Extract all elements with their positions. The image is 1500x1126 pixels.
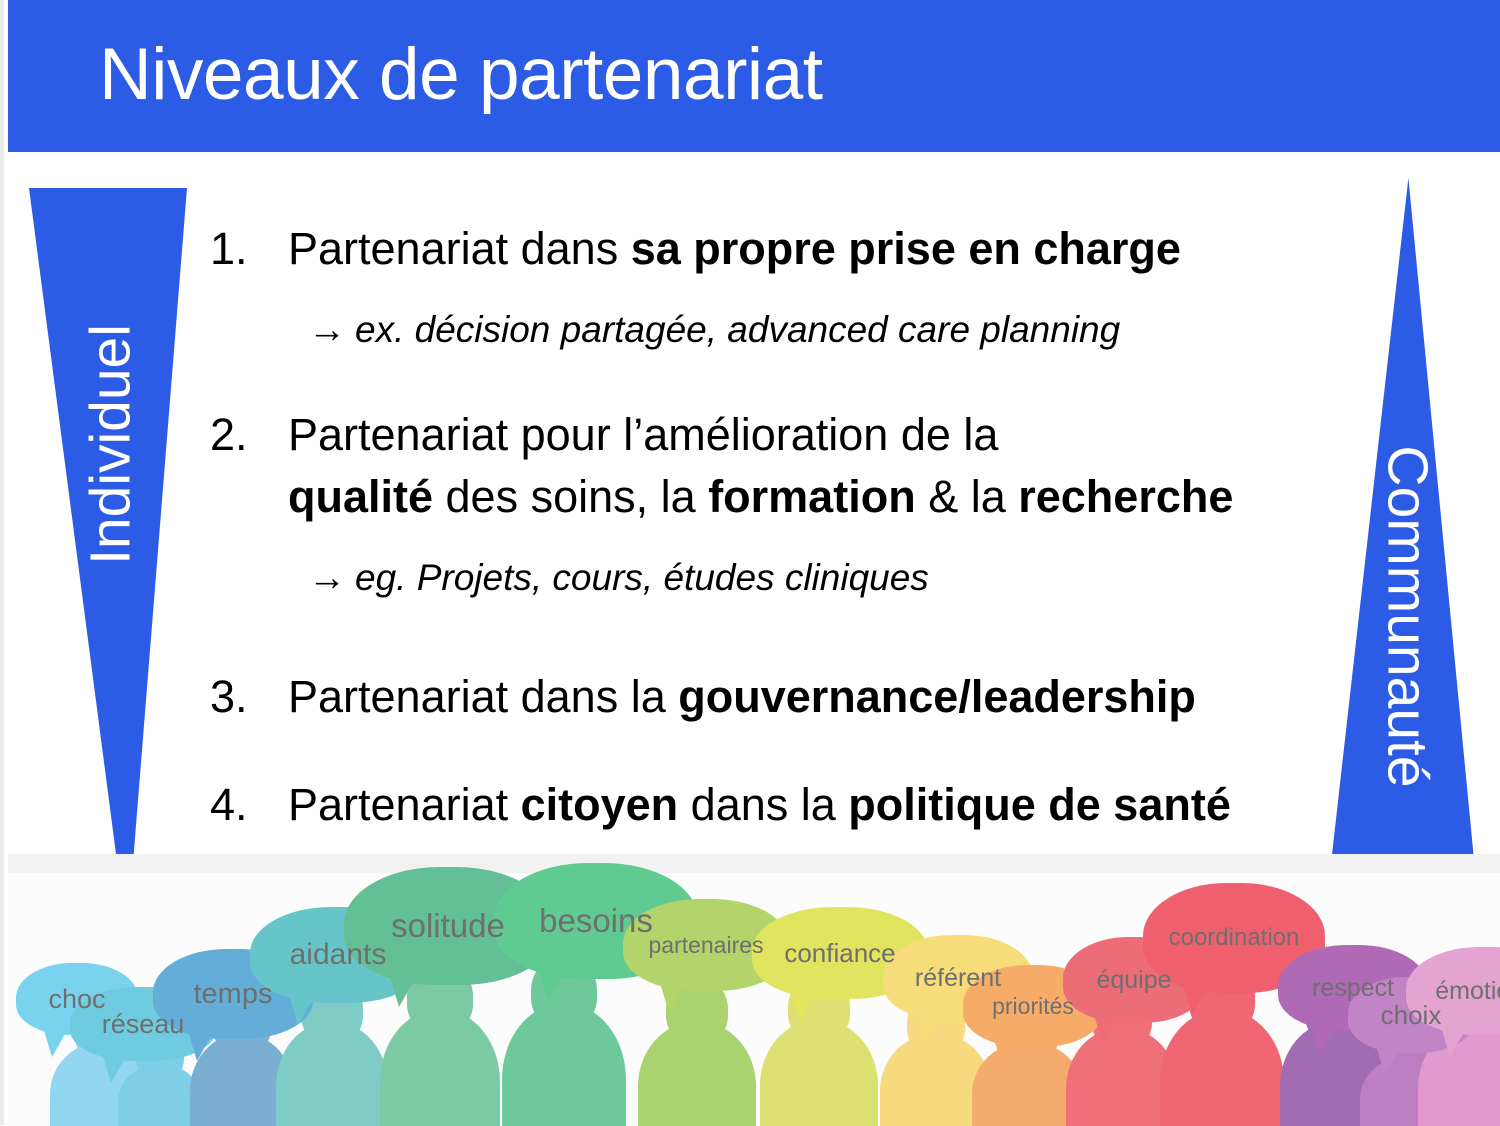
list-item-example-text: eg. Projets, cours, études cliniques bbox=[355, 557, 929, 598]
list-item-number: 3. bbox=[210, 666, 288, 728]
plain-text: Partenariat pour l’amélioration de la bbox=[288, 409, 998, 460]
emphasis-text: recherche bbox=[1018, 471, 1233, 522]
list-item-example: →ex. décision partagée, advanced care pl… bbox=[308, 302, 1360, 358]
list-item-row: 3.Partenariat dans la gouvernance/leader… bbox=[210, 666, 1360, 728]
speech-bubble-label: respect bbox=[1312, 974, 1394, 1003]
spacer bbox=[210, 528, 1360, 550]
plain-text: & la bbox=[916, 471, 1019, 522]
speech-bubble-label: choix bbox=[1381, 1000, 1442, 1031]
spacer bbox=[210, 280, 1360, 302]
people-speech-bubbles-illustration: chocréseautempsaidantssolitudebesoinspar… bbox=[8, 854, 1500, 1126]
plain-text: Partenariat dans bbox=[288, 223, 631, 274]
speech-bubble-tail bbox=[1311, 1023, 1337, 1053]
emphasis-text: politique de santé bbox=[848, 779, 1231, 830]
list-item-number: 2. bbox=[210, 404, 288, 466]
title-banner: Niveaux de partenariat bbox=[8, 0, 1500, 152]
spacer bbox=[210, 358, 1360, 404]
emphasis-text: qualité bbox=[288, 471, 433, 522]
slide: Niveaux de partenariat Individuel Commun… bbox=[0, 0, 1500, 1125]
list-item-body: Partenariat pour l’amélioration de laqua… bbox=[288, 404, 1360, 528]
speech-bubble-label: besoins bbox=[539, 902, 653, 940]
speech-bubble-label: partenaires bbox=[648, 932, 763, 959]
list-item-row: 4.Partenariat citoyen dans la politique … bbox=[210, 774, 1360, 836]
person-body bbox=[1160, 1010, 1284, 1126]
individual-axis-label: Individuel bbox=[83, 245, 140, 645]
speech-bubble-tail bbox=[289, 995, 315, 1025]
partnership-levels-list: 1.Partenariat dans sa propre prise en ch… bbox=[210, 218, 1360, 836]
speech-bubble-label: réseau bbox=[102, 1009, 185, 1040]
list-item-number: 4. bbox=[210, 774, 288, 836]
speech-bubble-tail bbox=[994, 1039, 1020, 1069]
spacer bbox=[210, 728, 1360, 774]
person-body bbox=[760, 1020, 878, 1126]
individual-axis-triangle: Individuel bbox=[29, 188, 187, 938]
person-body bbox=[638, 1022, 756, 1126]
page-title: Niveaux de partenariat bbox=[99, 30, 823, 120]
emphasis-text: formation bbox=[708, 471, 916, 522]
speech-bubble-tail bbox=[1094, 1015, 1120, 1045]
list-item-number: 1. bbox=[210, 218, 288, 280]
speech-bubble-tail bbox=[660, 983, 686, 1013]
speech-bubble-tail bbox=[188, 1031, 214, 1061]
list-item: 3.Partenariat dans la gouvernance/leader… bbox=[210, 666, 1360, 728]
speech-bubble-tail bbox=[791, 991, 817, 1021]
spacer bbox=[210, 606, 1360, 666]
list-item-example: →eg. Projets, cours, études cliniques bbox=[308, 550, 1360, 606]
list-item: 1.Partenariat dans sa propre prise en ch… bbox=[210, 218, 1360, 358]
list-item: 4.Partenariat citoyen dans la politique … bbox=[210, 774, 1360, 836]
list-item-body: Partenariat citoyen dans la politique de… bbox=[288, 774, 1360, 836]
emphasis-text: gouvernance/leadership bbox=[678, 671, 1196, 722]
speech-bubble-tail bbox=[102, 1053, 128, 1083]
person-body bbox=[276, 1022, 388, 1126]
community-axis-label: Communauté bbox=[1379, 402, 1436, 832]
plain-text: Partenariat bbox=[288, 779, 521, 830]
list-item-line: Partenariat dans la gouvernance/leadersh… bbox=[288, 666, 1360, 728]
list-item-body: Partenariat dans la gouvernance/leadersh… bbox=[288, 666, 1360, 728]
person-silhouette bbox=[638, 977, 756, 1126]
speech-bubble-label: référent bbox=[915, 964, 1001, 993]
person-body bbox=[380, 1010, 500, 1126]
speech-bubble-label: temps bbox=[194, 978, 273, 1011]
speech-bubble-label: confiance bbox=[784, 938, 895, 969]
speech-bubble-tail bbox=[916, 1013, 942, 1043]
list-item-row: 2.Partenariat pour l’amélioration de laq… bbox=[210, 404, 1360, 528]
list-item-line: Partenariat dans sa propre prise en char… bbox=[288, 218, 1360, 280]
speech-bubble-label: aidants bbox=[290, 938, 387, 972]
speech-bubble-tail bbox=[1183, 985, 1209, 1015]
speech-bubble-label: choc bbox=[48, 984, 105, 1015]
emphasis-text: citoyen bbox=[521, 779, 679, 830]
plain-text: des soins, la bbox=[433, 471, 708, 522]
speech-bubble-label: émotions bbox=[1435, 977, 1500, 1006]
plain-text: Partenariat dans la bbox=[288, 671, 678, 722]
right-arrow-icon: → bbox=[308, 302, 346, 358]
speech-bubble-label: priorités bbox=[992, 993, 1074, 1020]
plain-text: dans la bbox=[678, 779, 848, 830]
speech-bubble-label: équipe bbox=[1096, 966, 1171, 995]
list-item: 2.Partenariat pour l’amélioration de laq… bbox=[210, 404, 1360, 606]
illustration-top-band bbox=[8, 855, 1500, 873]
list-item-line: qualité des soins, la formation & la rec… bbox=[288, 466, 1360, 528]
right-arrow-icon: → bbox=[308, 550, 346, 606]
speech-bubble-tail bbox=[1376, 1045, 1402, 1075]
speech-bubble-tail bbox=[43, 1027, 69, 1057]
list-item-line: Partenariat citoyen dans la politique de… bbox=[288, 774, 1360, 836]
speech-bubble-tail bbox=[539, 971, 565, 1001]
list-item-line: Partenariat pour l’amélioration de la bbox=[288, 404, 1360, 466]
speech-bubble-tail bbox=[390, 977, 416, 1007]
person-body bbox=[502, 1004, 626, 1126]
speech-bubble-label: solitude bbox=[391, 907, 505, 945]
list-item-body: Partenariat dans sa propre prise en char… bbox=[288, 218, 1360, 280]
speech-bubble-label: coordination bbox=[1169, 924, 1300, 952]
emphasis-text: sa propre prise en charge bbox=[631, 223, 1181, 274]
speech-bubble-tail bbox=[1441, 1027, 1467, 1057]
list-item-example-text: ex. décision partagée, advanced care pla… bbox=[355, 309, 1120, 350]
list-item-row: 1.Partenariat dans sa propre prise en ch… bbox=[210, 218, 1360, 280]
